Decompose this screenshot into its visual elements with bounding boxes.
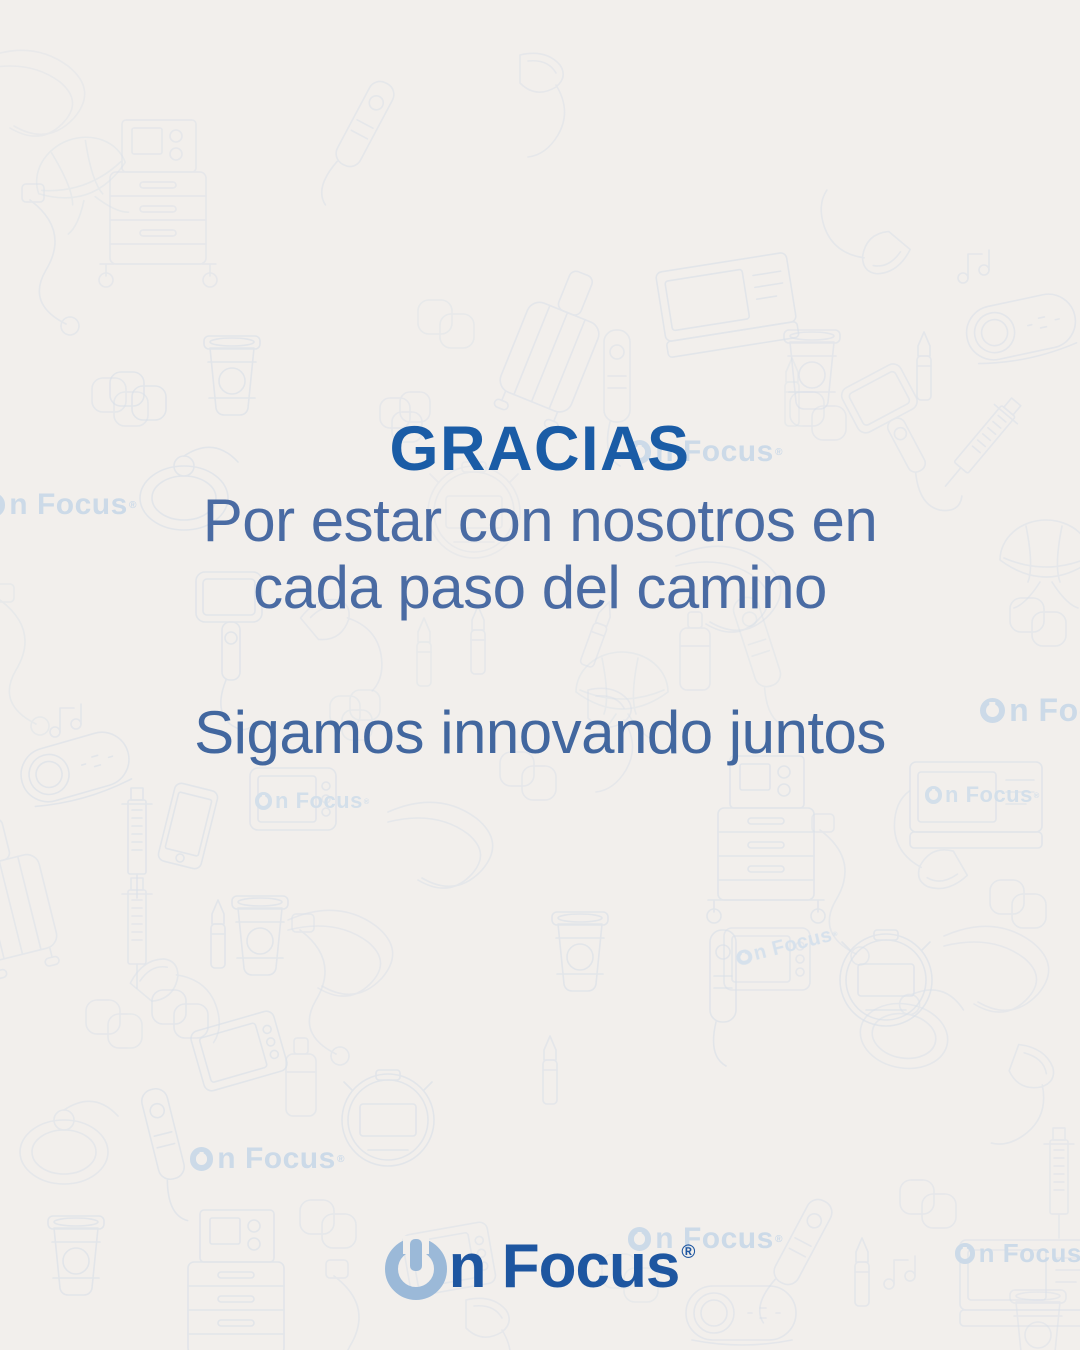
power-button-icon (255, 792, 272, 809)
watermark-logo: n Focus ® (734, 923, 841, 971)
message-spacer (0, 621, 1080, 699)
power-button-icon (735, 948, 754, 967)
power-button-icon (980, 698, 1005, 723)
watermark-logo-text: n Focus (1009, 692, 1080, 729)
watermark-logo: n Focus ® (190, 1142, 345, 1176)
registered-mark: ® (1034, 791, 1040, 800)
power-button-icon (190, 1147, 213, 1170)
registered-mark: ® (775, 447, 783, 458)
watermark-logo: n Focus ® (980, 692, 1080, 729)
registered-mark: ® (129, 500, 137, 511)
watermark-logo-text: n Focus (275, 788, 363, 814)
message-closing: Sigamos innovando juntos (0, 699, 1080, 766)
message-line-2: cada paso del camino (0, 554, 1080, 621)
power-button-icon (628, 440, 651, 463)
message-line-1: Por estar con nosotros en (0, 487, 1080, 554)
power-icon-bar (410, 1239, 422, 1271)
heading-gracias: GRACIAS (0, 418, 1080, 481)
watermark-logo-text: n Focus (9, 488, 128, 522)
watermark-logo: n Focus ® (628, 435, 783, 469)
footer-logo-inner: n Focus ® (385, 1234, 696, 1304)
registered-mark: ® (364, 797, 370, 806)
power-button-icon (385, 1238, 447, 1300)
watermark-logo-text: n Focus (655, 435, 774, 469)
registered-mark: ® (681, 1242, 695, 1264)
registered-mark: ® (337, 1154, 345, 1165)
watermark-logo-text: n Focus (945, 782, 1033, 808)
power-button-icon (0, 493, 5, 516)
main-message-block: GRACIAS Por estar con nosotros en cada p… (0, 418, 1080, 767)
watermark-logo: n Focus ® (925, 782, 1040, 808)
watermark-logo-text: n Focus (217, 1142, 336, 1176)
poster-canvas: n Focus ® n Focus ® n Focus ® n Focus ® … (0, 0, 1080, 1350)
footer-logo-text: n Focus (449, 1236, 680, 1298)
watermark-logo: n Focus ® (0, 488, 137, 522)
registered-mark: ® (832, 930, 839, 938)
watermark-logo: n Focus ® (255, 788, 370, 814)
watermark-logo-text: n Focus (751, 924, 834, 966)
footer-logo: n Focus ® (0, 1234, 1080, 1304)
background-doodle-pattern (0, 0, 1080, 1350)
power-button-icon (925, 786, 942, 803)
